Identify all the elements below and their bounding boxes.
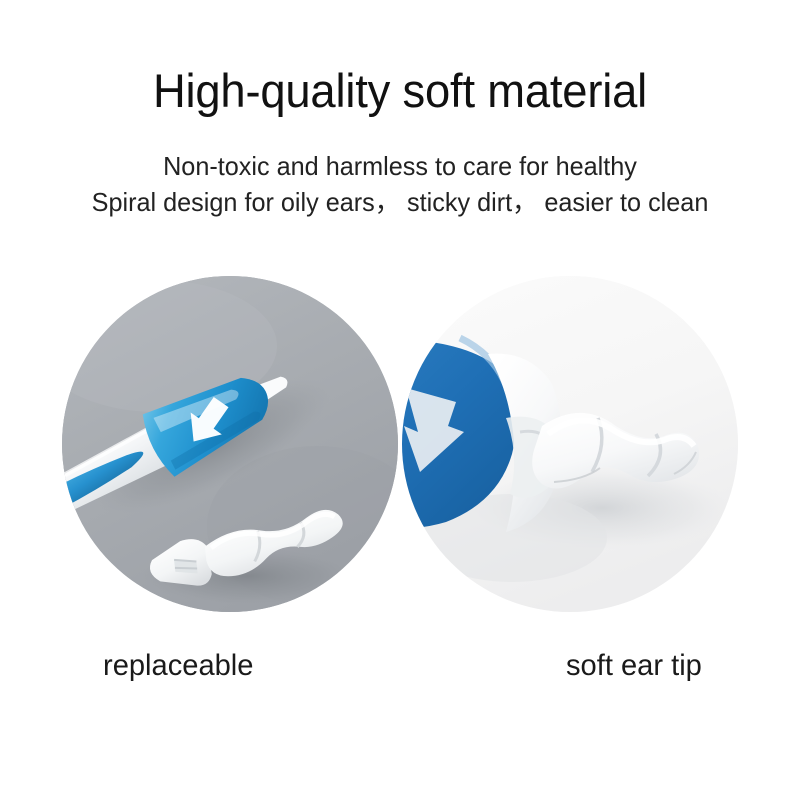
page-headline: High-quality soft material [14, 66, 786, 117]
page-subheadline-line-1: Non-toxic and harmless to care for healt… [12, 150, 788, 183]
caption-soft-ear-tip: soft ear tip [566, 648, 702, 684]
product-photo-soft-ear-tip [402, 276, 738, 612]
replaceable-illustration [62, 276, 398, 612]
page-subheadline-line-2: Spiral design for oily ears， sticky dirt… [12, 186, 788, 219]
caption-replaceable: replaceable [103, 648, 253, 684]
soft-ear-tip-illustration [402, 276, 738, 612]
product-photo-replaceable [62, 276, 398, 612]
